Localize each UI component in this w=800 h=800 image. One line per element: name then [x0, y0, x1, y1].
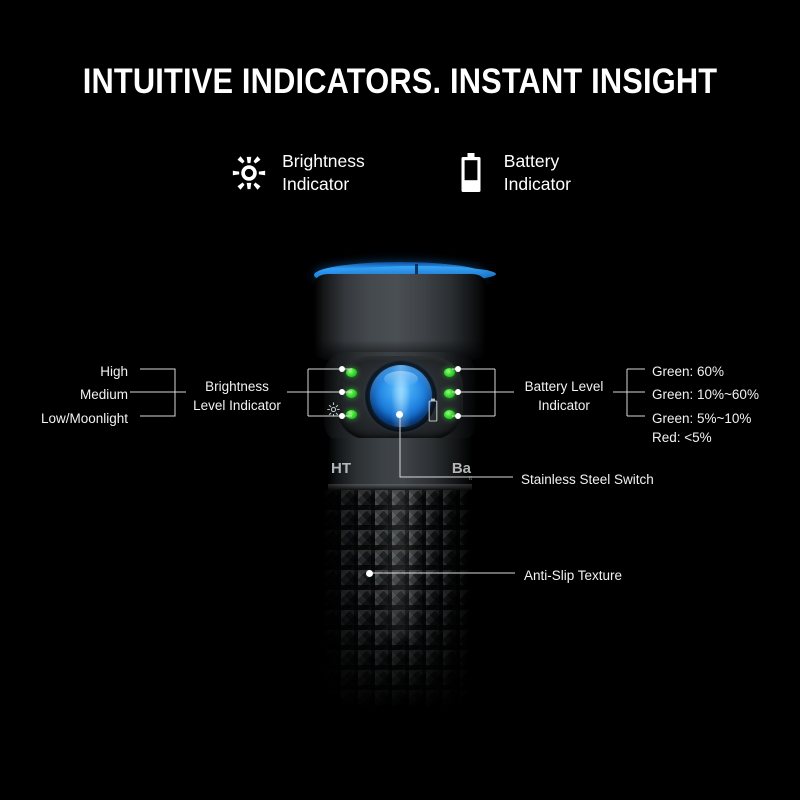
callout-brightness-medium: Medium: [0, 385, 128, 404]
battery-led-top: [444, 368, 455, 377]
callout-battery-level-3-line2: Red: <5%: [652, 428, 751, 447]
callout-brightness-level-indicator-line1: Brightness: [185, 377, 289, 396]
callout-battery-level-3-line1: Green: 5%~10%: [652, 409, 751, 428]
callout-brightness-level-indicator-line2: Level Indicator: [185, 396, 289, 415]
callout-brightness-high: High: [0, 362, 128, 381]
callout-brightness-low: Low/Moonlight: [0, 409, 128, 428]
brand-text-right: Ba: [452, 460, 471, 477]
brightness-led-low: [346, 410, 357, 419]
led-anchor-right-2: [455, 389, 461, 395]
brightness-led-medium: [346, 389, 357, 398]
switch-highlight: [384, 371, 418, 387]
callout-battery-level-2: Green: 10%~60%: [652, 385, 759, 404]
tube-shading: [324, 490, 476, 710]
battery-icon: [451, 151, 491, 195]
legend-item-brightness: Brightness Indicator: [229, 150, 365, 196]
brand-text-left: HT: [331, 460, 351, 477]
callout-anti-slip-texture: Anti-Slip Texture: [524, 566, 622, 585]
texture-anchor-dot: [366, 570, 373, 577]
brand-text-right-sub: tt: [469, 476, 472, 482]
battery-led-bottom: [444, 410, 455, 419]
flashlight-body-tube: [324, 490, 476, 710]
flashlight-product: HT Ba tt: [297, 262, 503, 722]
led-anchor-right-1: [455, 366, 461, 372]
battery-led-middle: [444, 389, 455, 398]
legend-label-battery: Battery Indicator: [504, 150, 571, 196]
legend-label-battery-line2: Indicator: [504, 173, 571, 196]
stainless-steel-switch[interactable]: [370, 365, 432, 427]
legend-label-brightness: Brightness Indicator: [282, 150, 365, 196]
etched-sun-icon: [326, 401, 341, 423]
legend-label-battery-line1: Battery: [504, 151, 559, 171]
sun-icon: [229, 151, 269, 195]
brightness-led-high: [346, 368, 357, 377]
legend-label-brightness-line1: Brightness: [282, 151, 365, 171]
led-anchor-left-1: [339, 366, 345, 372]
legend-item-battery: Battery Indicator: [451, 150, 571, 196]
callout-brightness-level-indicator: Brightness Level Indicator: [185, 377, 289, 415]
led-anchor-right-3: [455, 413, 461, 419]
etched-battery-icon: [427, 398, 439, 427]
legend: Brightness Indicator Battery Indicator: [0, 150, 800, 196]
callout-battery-level-3: Green: 5%~10% Red: <5%: [652, 409, 751, 447]
legend-label-brightness-line2: Indicator: [282, 173, 365, 196]
callout-battery-level-indicator: Battery Level Indicator: [512, 377, 616, 415]
page-title: INTUITIVE INDICATORS. INSTANT INSIGHT: [48, 62, 752, 102]
callout-battery-level-indicator-line1: Battery Level: [512, 377, 616, 396]
led-anchor-left-2: [339, 389, 345, 395]
callout-battery-level-indicator-line2: Indicator: [512, 396, 616, 415]
led-anchor-left-3: [339, 413, 345, 419]
switch-anchor-dot: [396, 411, 403, 418]
callout-stainless-steel-switch: Stainless Steel Switch: [521, 470, 654, 489]
infographic-stage: INTUITIVE INDICATORS. INSTANT INSIGHT: [0, 0, 800, 800]
callout-battery-level-1: Green: 60%: [652, 362, 724, 381]
